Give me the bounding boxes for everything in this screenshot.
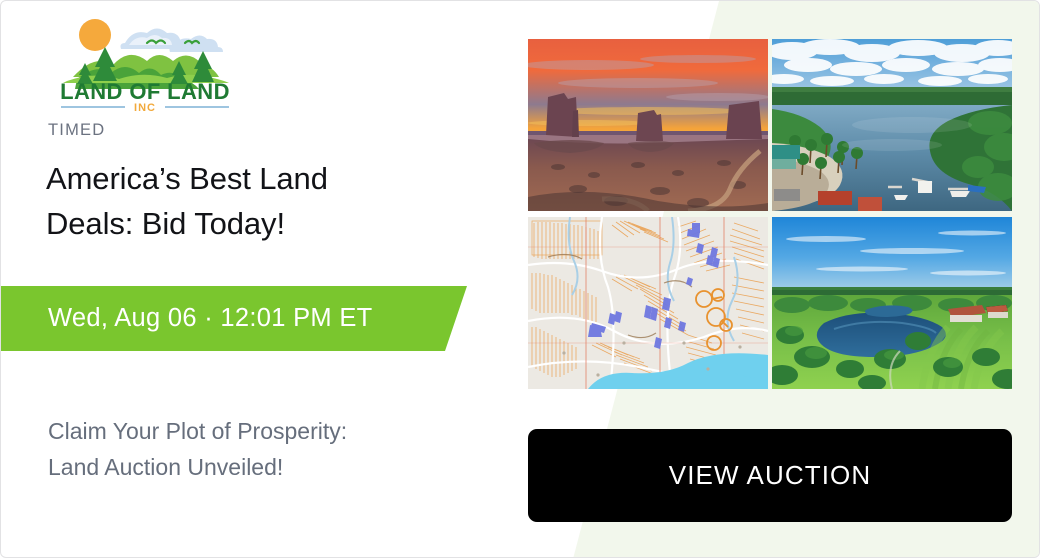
land-of-land-inc-logo: LAND OF LAND INC — [47, 13, 243, 113]
auction-subtitle-line-2: Land Auction Unveiled! — [48, 454, 283, 480]
page-title: America’s Best LandDeals: Bid Today! — [46, 156, 466, 246]
riverfront-aerial-photo[interactable] — [772, 39, 1012, 211]
auction-subtitle: Claim Your Plot of Prosperity:Land Aucti… — [48, 413, 478, 485]
logo-inc-text: INC — [134, 102, 156, 113]
view-auction-button[interactable]: VIEW AUCTION — [528, 429, 1012, 522]
desert-sunset-photo[interactable] — [528, 39, 768, 211]
parcel-map-image[interactable] — [528, 217, 768, 389]
page-title-line-2: Deals: Bid Today! — [46, 206, 285, 241]
auction-date-banner: Wed, Aug 06 · 12:01 PM ET — [1, 286, 471, 351]
auction-subtitle-line-1: Claim Your Plot of Prosperity: — [48, 418, 347, 444]
golf-course-aerial-photo[interactable] — [772, 217, 1012, 389]
sun-icon — [79, 19, 111, 51]
page-title-line-1: America’s Best Land — [46, 161, 328, 196]
auction-datetime-text: Wed, Aug 06 · 12:01 PM ET — [48, 304, 373, 333]
property-photo-grid — [528, 39, 1012, 389]
auction-type-label: TIMED — [48, 121, 105, 140]
auction-promo-card: LAND OF LAND INC TIMED America’s Best La… — [0, 0, 1040, 558]
left-content-column: LAND OF LAND INC TIMED America’s Best La… — [1, 1, 521, 558]
logo-wordmark: LAND OF LAND — [60, 79, 230, 104]
